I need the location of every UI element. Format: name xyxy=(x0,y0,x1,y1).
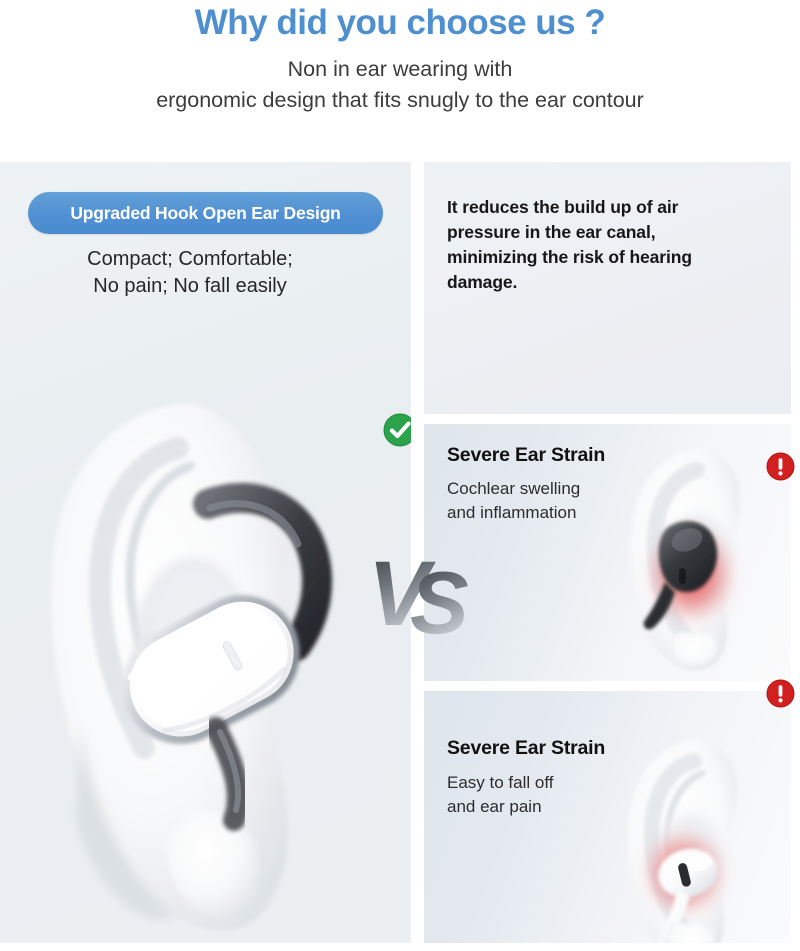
feature-line-1: Compact; Comfortable; xyxy=(0,246,380,273)
strain-desc-falloff-line-1: Easy to fall off xyxy=(447,773,553,792)
benefit-line-4: damage. xyxy=(447,272,517,292)
exclamation-circle-icon xyxy=(766,452,795,481)
upgraded-hook-badge-label: Upgraded Hook Open Ear Design xyxy=(70,203,340,224)
page-title: Why did you choose us ? xyxy=(0,0,800,44)
vs-divider-logo: V S xyxy=(366,543,484,641)
exclamation-circle-icon xyxy=(766,679,795,708)
svg-text:S: S xyxy=(410,553,469,641)
benefit-line-2: pressure in the ear canal, xyxy=(447,222,655,242)
subtitle-line-2: ergonomic design that fits snugly to the… xyxy=(0,85,800,116)
benefit-panel: It reduces the build up of air pressure … xyxy=(424,162,791,414)
strain-desc-cochlear-line-2: and inflammation xyxy=(447,503,576,522)
ear-with-earbud-photo xyxy=(20,392,390,937)
benefit-line-1: It reduces the build up of air xyxy=(447,197,678,217)
page-subtitle: Non in ear wearing with ergonomic design… xyxy=(0,44,800,116)
header-section: Why did you choose us ? Non in ear weari… xyxy=(0,0,800,158)
ear-with-stem-earbud-photo xyxy=(606,733,791,943)
ear-with-inear-bud-photo xyxy=(609,442,791,677)
strain-title-falloff: Severe Ear Strain xyxy=(447,737,605,760)
left-feature-list: Compact; Comfortable; No pain; No fall e… xyxy=(0,246,380,300)
strain-desc-cochlear-line-1: Cochlear swelling xyxy=(447,479,580,498)
strain-title-cochlear: Severe Ear Strain xyxy=(447,444,605,467)
strain-desc-falloff-line-2: and ear pain xyxy=(447,797,542,816)
subtitle-line-1: Non in ear wearing with xyxy=(0,54,800,85)
check-circle-icon xyxy=(383,413,411,447)
strain-falloff-panel: Severe Ear Strain Easy to fall off and e… xyxy=(424,691,791,943)
upgraded-hook-badge: Upgraded Hook Open Ear Design xyxy=(28,192,383,234)
benefit-text: It reduces the build up of air pressure … xyxy=(447,195,767,295)
left-product-panel: Upgraded Hook Open Ear Design Compact; C… xyxy=(0,162,411,943)
feature-line-2: No pain; No fall easily xyxy=(0,273,380,300)
benefit-line-3: minimizing the risk of hearing xyxy=(447,247,692,267)
